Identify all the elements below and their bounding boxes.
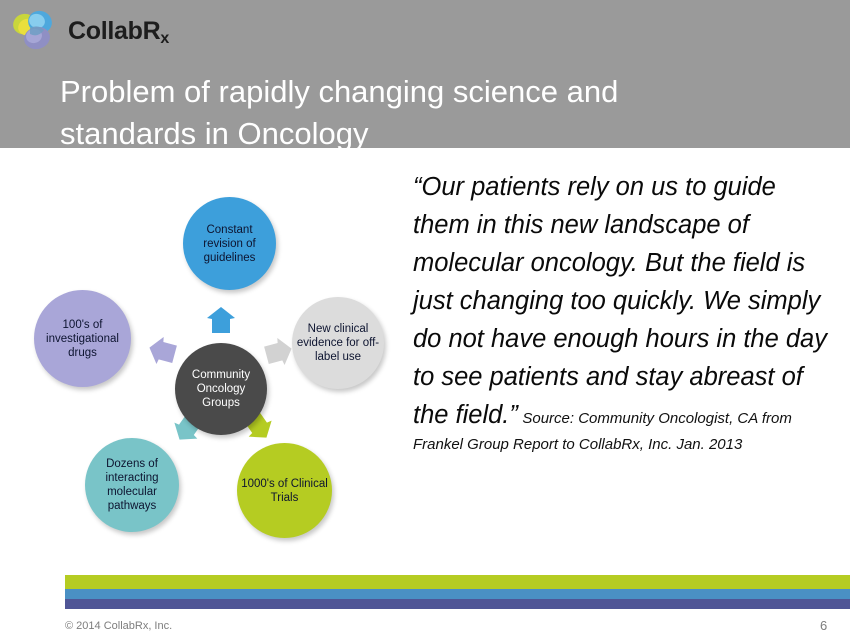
brand-logo: CollabRx — [10, 8, 240, 56]
diagram-node-label: 100's of investigational drugs — [34, 318, 131, 360]
brand-wordmark-sub: x — [160, 30, 169, 47]
page-title: Problem of rapidly changing science and … — [60, 71, 760, 155]
arrow-left-icon — [147, 337, 177, 365]
brand-wordmark: CollabRx — [68, 17, 169, 48]
hub-and-spoke-diagram: Constant revision of guidelines New clin… — [20, 175, 410, 550]
diagram-node-trials: 1000's of Clinical Trials — [237, 443, 332, 538]
footer-bar-blue — [65, 589, 850, 599]
arrow-right-icon — [264, 338, 294, 366]
diagram-node-label: 1000's of Clinical Trials — [237, 477, 332, 505]
quote-text: “Our patients rely on us to guide them i… — [413, 173, 827, 429]
quote-block: “Our patients rely on us to guide them i… — [413, 168, 833, 456]
footer-bar-purple — [65, 599, 850, 609]
diagram-node-drugs: 100's of investigational drugs — [34, 290, 131, 387]
diagram-node-guidelines: Constant revision of guidelines — [183, 197, 276, 290]
diagram-node-label: New clinical evidence for off-label use — [292, 322, 384, 364]
footer-copyright: © 2014 CollabRx, Inc. — [65, 620, 172, 632]
diagram-center-node: Community Oncology Groups — [175, 343, 267, 435]
diagram-node-label: Dozens of interacting molecular pathways — [85, 457, 179, 513]
collabrx-orb-logo-icon — [10, 8, 58, 54]
footer-bar-green — [65, 575, 850, 589]
footer-page-number: 6 — [820, 618, 827, 633]
brand-wordmark-main: CollabR — [68, 17, 160, 45]
diagram-node-pathways: Dozens of interacting molecular pathways — [85, 438, 179, 532]
diagram-center-label: Community Oncology Groups — [175, 368, 267, 410]
arrow-up-icon — [206, 306, 236, 334]
diagram-node-label: Constant revision of guidelines — [183, 223, 276, 265]
footer-accent-bars — [65, 575, 850, 609]
diagram-node-off-label: New clinical evidence for off-label use — [292, 297, 384, 389]
